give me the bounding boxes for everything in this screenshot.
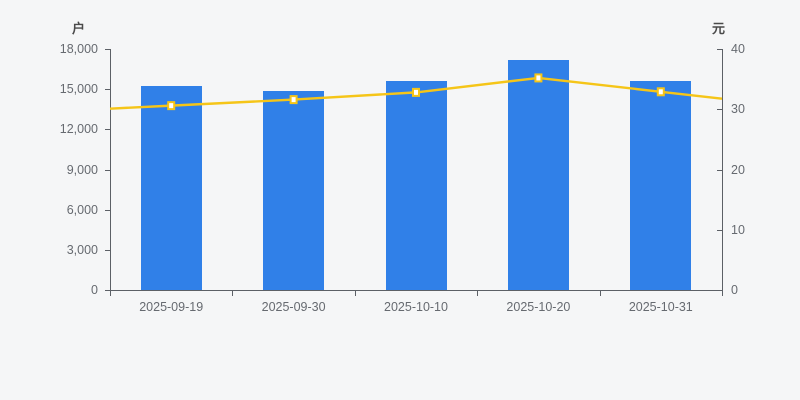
left-axis-tick-label: 6,000 bbox=[0, 204, 98, 217]
x-axis-tick bbox=[110, 291, 111, 296]
left-axis-tick bbox=[105, 89, 110, 90]
right-axis-tick-label: 40 bbox=[731, 43, 745, 56]
right-axis-tick-label: 10 bbox=[731, 224, 745, 237]
x-axis-category-label: 2025-10-10 bbox=[384, 300, 448, 315]
right-axis-tick bbox=[717, 170, 722, 171]
left-axis-tick bbox=[105, 129, 110, 130]
right-axis-tick-label: 30 bbox=[731, 103, 745, 116]
x-axis-tick bbox=[355, 291, 356, 296]
x-axis-category-label: 2025-10-31 bbox=[629, 300, 693, 315]
x-axis-tick bbox=[722, 291, 723, 296]
left-axis-tick-label: 18,000 bbox=[0, 43, 98, 56]
x-axis-tick bbox=[600, 291, 601, 296]
right-axis-tick bbox=[717, 49, 722, 50]
left-axis-tick-label: 15,000 bbox=[0, 83, 98, 96]
bar[interactable] bbox=[508, 60, 569, 290]
bar[interactable] bbox=[263, 91, 324, 290]
right-axis-tick-label: 0 bbox=[731, 284, 738, 297]
right-axis-line bbox=[722, 49, 723, 291]
x-axis-category-label: 2025-10-20 bbox=[506, 300, 570, 315]
bar[interactable] bbox=[386, 81, 447, 290]
x-axis-line bbox=[110, 290, 723, 291]
right-axis-tick-label: 20 bbox=[731, 164, 745, 177]
bar[interactable] bbox=[141, 86, 202, 290]
right-axis-unit-label: 元 bbox=[712, 18, 725, 37]
x-axis-tick bbox=[232, 291, 233, 296]
left-axis-line bbox=[110, 49, 111, 291]
left-axis-tick-label: 12,000 bbox=[0, 123, 98, 136]
x-axis-category-label: 2025-09-19 bbox=[139, 300, 203, 315]
right-axis-tick bbox=[717, 230, 722, 231]
left-axis-tick-label: 0 bbox=[0, 284, 98, 297]
x-axis-category-label: 2025-09-30 bbox=[262, 300, 326, 315]
left-axis-tick bbox=[105, 210, 110, 211]
x-axis-tick bbox=[477, 291, 478, 296]
left-axis-tick-label: 3,000 bbox=[0, 244, 98, 257]
bar[interactable] bbox=[630, 81, 691, 290]
left-axis-tick bbox=[105, 49, 110, 50]
right-axis-tick bbox=[717, 109, 722, 110]
left-axis-unit-label: 户 bbox=[72, 18, 85, 37]
left-axis-tick-label: 9,000 bbox=[0, 164, 98, 177]
left-axis-tick bbox=[105, 250, 110, 251]
chart-canvas: 户 元 03,0006,0009,00012,00015,00018,000 0… bbox=[0, 0, 800, 400]
left-axis-tick bbox=[105, 170, 110, 171]
